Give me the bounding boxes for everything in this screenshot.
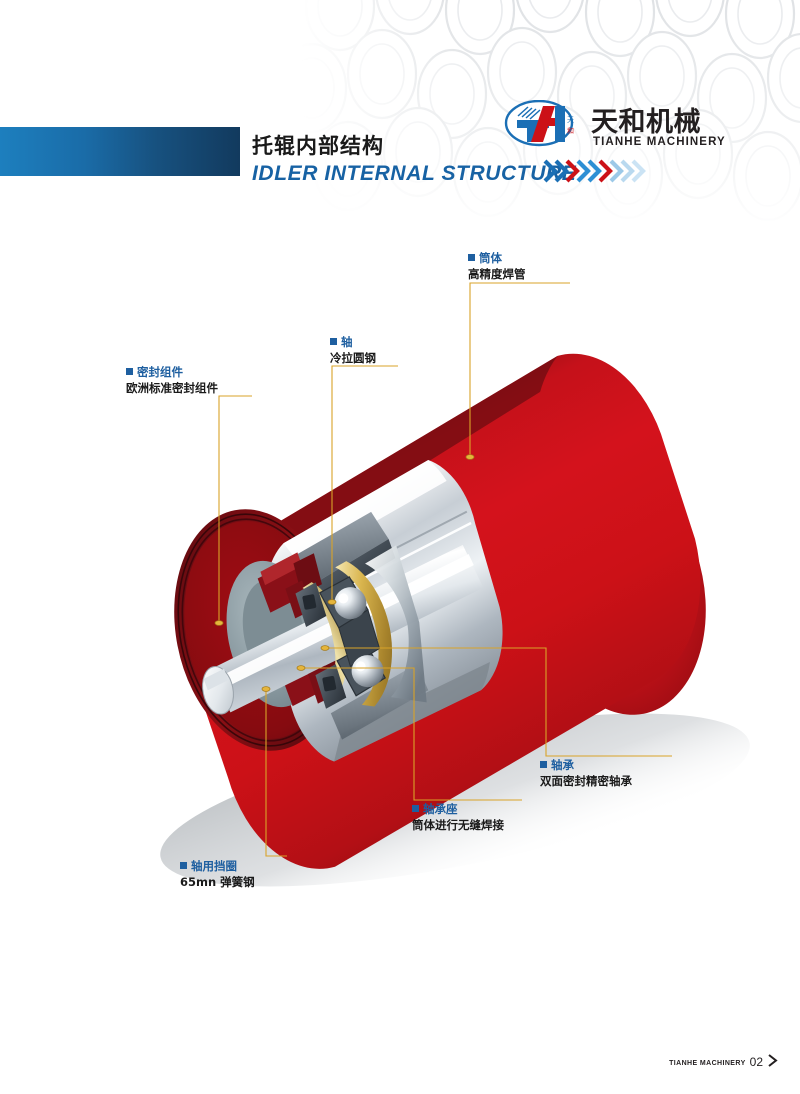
bullet-square-icon xyxy=(126,368,133,375)
callout-seal-assembly: 密封组件 欧洲标准密封组件 xyxy=(126,364,218,396)
footer-page-group: 02 xyxy=(750,1057,763,1068)
callout-seal-subtitle: 欧洲标准密封组件 xyxy=(126,380,218,396)
svg-text:天: 天 xyxy=(567,116,574,124)
callout-bearing-title: 轴承 xyxy=(540,757,632,773)
callout-bearing-seat-subtitle: 筒体进行无缝焊接 xyxy=(412,817,504,833)
page-root: 托辊内部结构 IDLER INTERNAL STRUCTURE xyxy=(0,0,800,1094)
callout-shaft-subtitle: 冷拉圆钢 xyxy=(330,350,376,366)
bullet-square-icon xyxy=(330,338,337,345)
bullet-square-icon xyxy=(180,862,187,869)
svg-text:和: 和 xyxy=(567,126,574,135)
footer-brand: TIANHE MACHINERY xyxy=(669,1060,746,1068)
logo-wordmark-en: TIANHE MACHINERY xyxy=(593,136,726,148)
callout-retaining-ring: 轴用挡圈 65mn 弹簧钢 xyxy=(180,858,255,890)
header-blue-bar xyxy=(0,127,240,176)
logo-mark-icon: 天 和 xyxy=(506,101,574,145)
callout-cylinder-title: 筒体 xyxy=(468,250,526,266)
callout-bearing-subtitle: 双面密封精密轴承 xyxy=(540,773,632,789)
company-logo: 天 和 天和机械 TIANHE MACHINERY xyxy=(503,100,735,158)
callout-bearing-seat-title: 轴承座 xyxy=(412,801,504,817)
callout-bearing: 轴承 双面密封精密轴承 xyxy=(540,757,632,789)
callout-retaining-ring-title: 轴用挡圈 xyxy=(180,858,255,874)
page-header: 托辊内部结构 IDLER INTERNAL STRUCTURE xyxy=(0,0,800,205)
page-title-en: IDLER INTERNAL STRUCTURE xyxy=(252,161,576,186)
footer-chevron-icon xyxy=(767,1054,778,1067)
callout-seal-title: 密封组件 xyxy=(126,364,218,380)
callout-shaft-title: 轴 xyxy=(330,334,376,350)
footer-page-number: 02 xyxy=(750,1057,763,1068)
callout-cylinder: 筒体 高精度焊管 xyxy=(468,250,526,282)
bullet-square-icon xyxy=(412,805,419,812)
callout-cylinder-subtitle: 高精度焊管 xyxy=(468,266,526,282)
logo-wordmark-cn: 天和机械 xyxy=(591,107,701,138)
idler-roller-cutaway-illustration xyxy=(60,330,760,890)
callout-bearing-seat: 轴承座 筒体进行无缝焊接 xyxy=(412,801,504,833)
bullet-square-icon xyxy=(540,761,547,768)
bullet-square-icon xyxy=(468,254,475,261)
chevron-arrows-icon xyxy=(543,158,663,184)
callout-shaft: 轴 冷拉圆钢 xyxy=(330,334,376,366)
page-footer: TIANHE MACHINERY 02 xyxy=(669,1054,778,1068)
callout-retaining-ring-subtitle: 65mn 弹簧钢 xyxy=(180,874,255,890)
